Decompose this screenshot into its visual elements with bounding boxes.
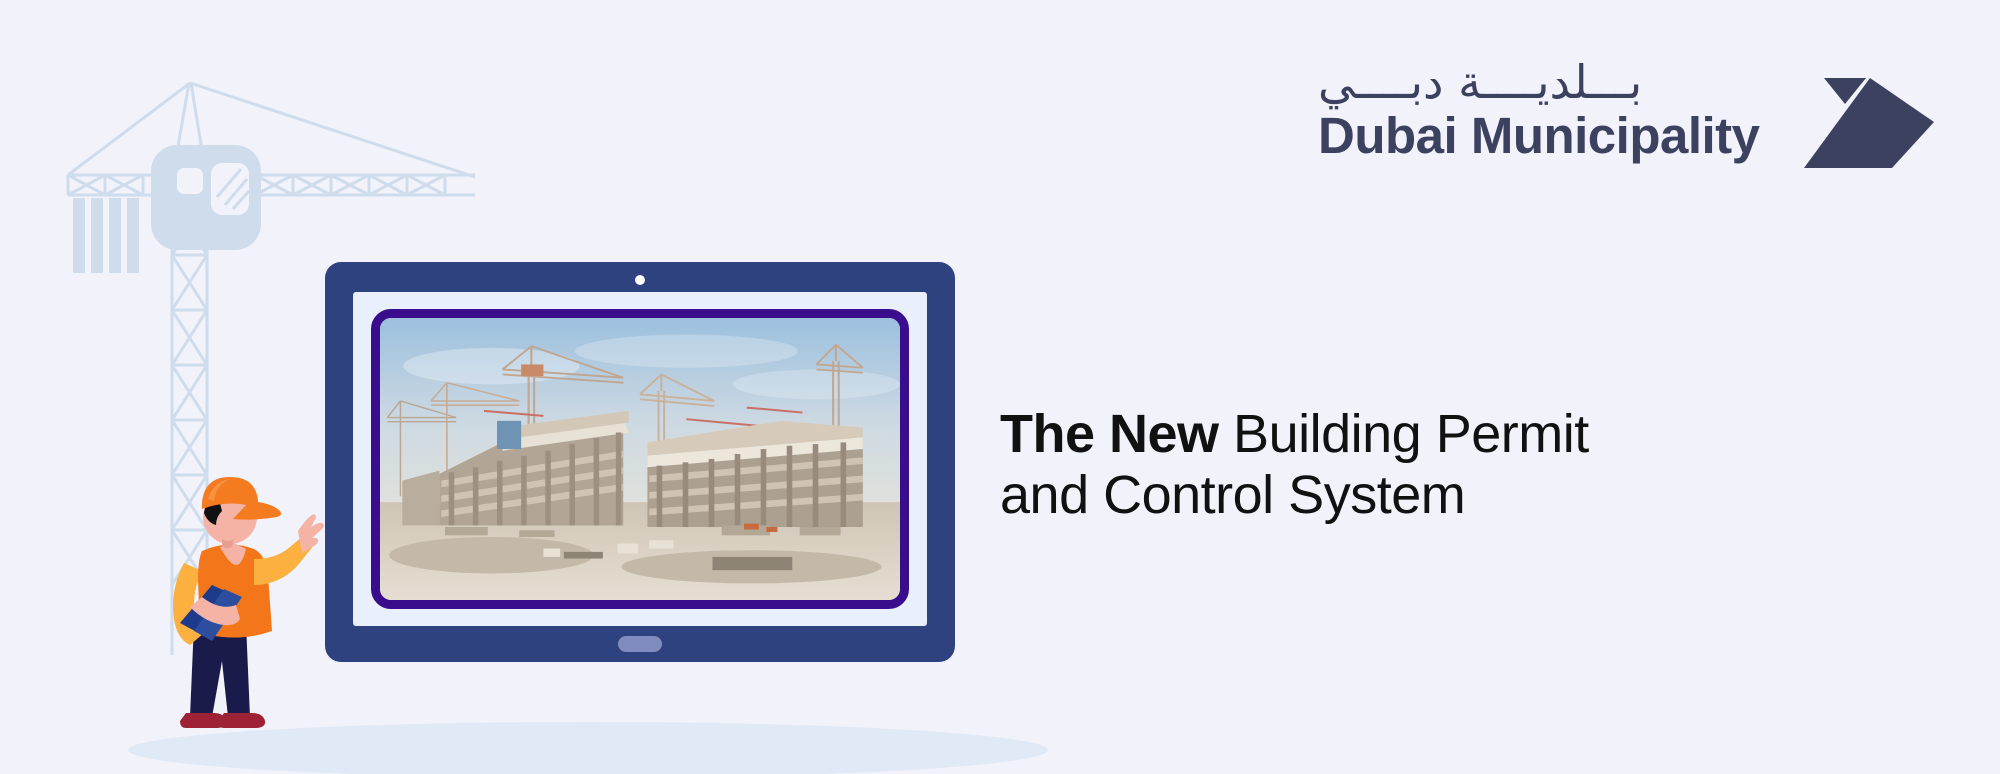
construction-worker-illustration — [150, 455, 340, 745]
screen-frame — [371, 309, 909, 609]
dubai-municipality-chevron-mark-icon — [1796, 60, 1976, 172]
headline-emphasis: The New — [1000, 404, 1219, 464]
dubai-municipality-logo[interactable]: بـــلديــــة دبــــي Dubai Municipality — [1318, 58, 1978, 178]
headline-line-1: The New Building Permit — [1000, 404, 1760, 465]
tablet-front-camera — [635, 275, 645, 285]
page-title: The New Building Permit and Control Syst… — [1000, 404, 1760, 526]
logo-wordmark: بـــلديــــة دبــــي Dubai Municipality — [1318, 58, 1788, 163]
tablet-home-button[interactable] — [618, 636, 662, 652]
tablet-screen-area — [353, 292, 927, 626]
logo-arabic-name: بـــلديــــة دبــــي — [1318, 58, 1788, 106]
headline-line-2: and Control System — [1000, 465, 1760, 526]
banner-root: بـــلديــــة دبــــي Dubai Municipality … — [0, 0, 2000, 774]
logo-latin-name: Dubai Municipality — [1318, 108, 1788, 163]
headline-line-1-rest: Building Permit — [1219, 404, 1589, 464]
construction-site-photo — [380, 318, 900, 600]
tablet-device — [325, 262, 955, 662]
